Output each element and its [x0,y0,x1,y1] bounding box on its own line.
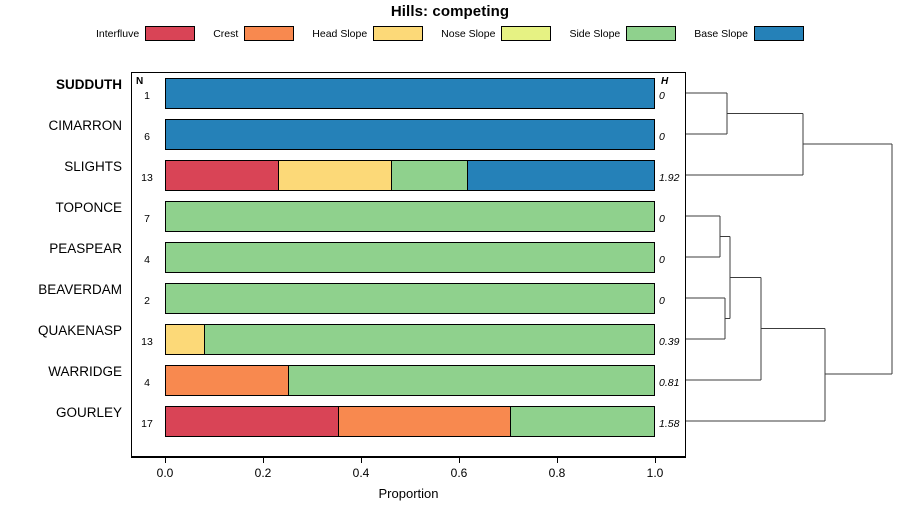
x-tick-mark [361,457,362,463]
bar-segment-interfluve[interactable] [166,161,279,190]
bar-segment-base-slope[interactable] [166,79,654,108]
row-label-toponce: TOPONCE [0,192,122,223]
legend-swatch [244,26,294,41]
bar-segment-head-slope[interactable] [166,325,205,354]
x-tick-label: 0.0 [145,466,185,480]
bar-segment-side-slope[interactable] [511,407,654,436]
bar-segment-side-slope[interactable] [205,325,654,354]
legend-swatch [501,26,551,41]
page-title: Hills: competing [0,3,900,20]
legend-item-head-slope: Head Slope [312,26,423,41]
stacked-bar[interactable] [165,160,655,191]
legend-label: Interfluve [96,28,139,40]
legend-swatch [754,26,804,41]
bar-segment-base-slope[interactable] [166,120,654,149]
legend: InterfluveCrestHead SlopeNose SlopeSide … [0,26,900,41]
legend-item-nose-slope: Nose Slope [441,26,551,41]
stacked-bar[interactable] [165,78,655,109]
x-tick-label: 0.6 [439,466,479,480]
row-label-beaverdam: BEAVERDAM [0,274,122,305]
bar-segment-side-slope[interactable] [166,243,654,272]
x-tick-label: 0.8 [537,466,577,480]
dendrogram-svg [686,72,900,457]
row-label-quakenasp: QUAKENASP [0,315,122,346]
legend-label: Side Slope [569,28,620,40]
row-n-value: 17 [134,417,160,431]
x-tick-label: 0.4 [341,466,381,480]
row-n-value: 4 [134,376,160,390]
stacked-bar[interactable] [165,201,655,232]
row-label-sudduth: SUDDUTH [0,69,122,100]
legend-label: Base Slope [694,28,748,40]
legend-swatch [373,26,423,41]
legend-label: Head Slope [312,28,367,40]
row-n-value: 7 [134,212,160,226]
dendrogram [686,72,900,457]
bar-segment-interfluve[interactable] [166,407,339,436]
x-tick-mark [263,457,264,463]
stacked-bar[interactable] [165,365,655,396]
legend-swatch [626,26,676,41]
bar-segment-side-slope[interactable] [166,284,654,313]
row-n-value: 2 [134,294,160,308]
row-label-peaspear: PEASPEAR [0,233,122,264]
legend-label: Crest [213,28,238,40]
x-tick-mark [655,457,656,463]
legend-item-base-slope: Base Slope [694,26,804,41]
row-label-cimarron: CIMARRON [0,110,122,141]
bar-segment-head-slope[interactable] [279,161,392,190]
stacked-bar[interactable] [165,324,655,355]
legend-swatch [145,26,195,41]
x-tick-mark [557,457,558,463]
bar-segment-side-slope[interactable] [166,202,654,231]
row-n-value: 1 [134,89,160,103]
x-tick-label: 0.2 [243,466,283,480]
stacked-bar[interactable] [165,283,655,314]
row-label-slights: SLIGHTS [0,151,122,182]
x-axis-line [131,457,686,458]
x-tick-mark [459,457,460,463]
x-tick-mark [165,457,166,463]
row-n-value: 4 [134,253,160,267]
legend-item-crest: Crest [213,26,294,41]
bar-segment-crest[interactable] [339,407,512,436]
bar-segment-side-slope[interactable] [289,366,654,395]
x-tick-label: 1.0 [635,466,675,480]
row-n-value: 6 [134,130,160,144]
row-n-value: 13 [134,171,160,185]
bar-segment-base-slope[interactable] [468,161,654,190]
legend-label: Nose Slope [441,28,495,40]
stacked-bar[interactable] [165,119,655,150]
stacked-bar[interactable] [165,406,655,437]
legend-item-side-slope: Side Slope [569,26,676,41]
legend-item-interfluve: Interfluve [96,26,195,41]
stacked-bar[interactable] [165,242,655,273]
bar-segment-side-slope[interactable] [392,161,468,190]
row-label-warridge: WARRIDGE [0,356,122,387]
bar-segment-crest[interactable] [166,366,289,395]
row-label-gourley: GOURLEY [0,397,122,428]
row-n-value: 13 [134,335,160,349]
x-axis-title: Proportion [131,486,686,501]
